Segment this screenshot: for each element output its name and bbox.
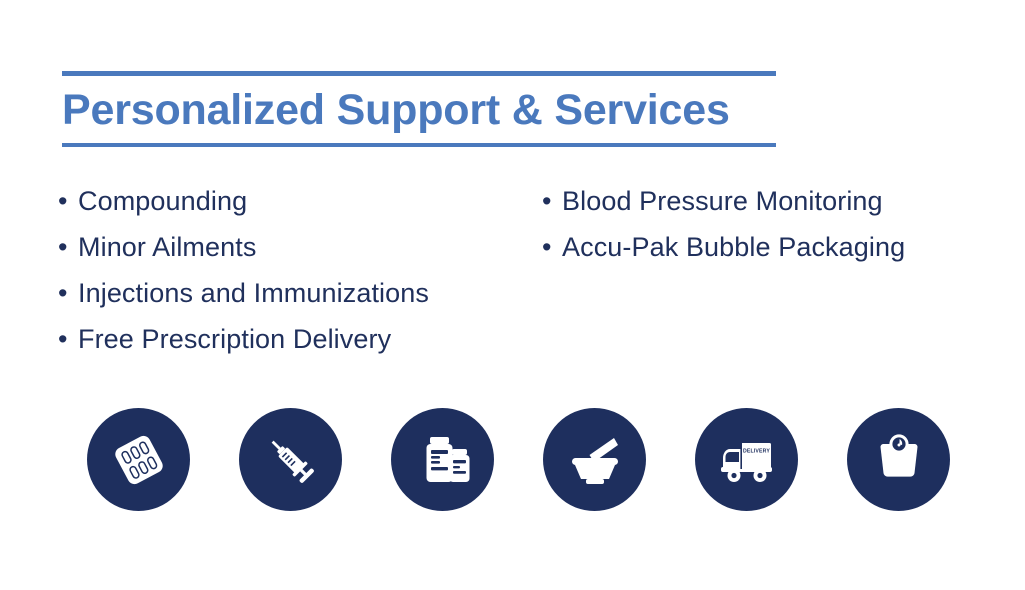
slide-canvas: Personalized Support & Services • Compou…	[0, 0, 1025, 590]
icon-row: DELIVERY	[0, 408, 1025, 512]
bullet-icon: •	[58, 316, 78, 362]
page-title: Personalized Support & Services	[62, 76, 776, 143]
pill-bottles-icon	[391, 408, 494, 511]
services-column-left: • Compounding • Minor Ailments • Injecti…	[58, 178, 429, 362]
blister-pack-icon	[87, 408, 190, 511]
list-item-label: Minor Ailments	[78, 224, 256, 270]
services-lists: • Compounding • Minor Ailments • Injecti…	[0, 178, 1025, 368]
delivery-van-icon: DELIVERY	[695, 408, 798, 511]
list-item-label: Accu-Pak Bubble Packaging	[562, 224, 905, 270]
delivery-van-label: DELIVERY	[743, 448, 770, 454]
bullet-icon: •	[542, 178, 562, 224]
services-column-right: • Blood Pressure Monitoring • Accu-Pak B…	[542, 178, 905, 270]
title-block: Personalized Support & Services	[62, 71, 776, 147]
bullet-icon: •	[58, 178, 78, 224]
list-item: • Injections and Immunizations	[58, 270, 429, 316]
list-item: • Compounding	[58, 178, 429, 224]
list-item-label: Free Prescription Delivery	[78, 316, 391, 362]
list-item-label: Injections and Immunizations	[78, 270, 429, 316]
list-item: • Minor Ailments	[58, 224, 429, 270]
list-item: • Free Prescription Delivery	[58, 316, 429, 362]
mortar-and-pestle-icon	[543, 408, 646, 511]
bullet-icon: •	[58, 270, 78, 316]
list-item: • Accu-Pak Bubble Packaging	[542, 224, 905, 270]
list-item-label: Blood Pressure Monitoring	[562, 178, 883, 224]
title-rule-bottom	[62, 143, 776, 147]
weight-scale-icon	[847, 408, 950, 511]
list-item-label: Compounding	[78, 178, 247, 224]
bullet-icon: •	[58, 224, 78, 270]
bullet-icon: •	[542, 224, 562, 270]
syringe-icon	[239, 408, 342, 511]
list-item: • Blood Pressure Monitoring	[542, 178, 905, 224]
